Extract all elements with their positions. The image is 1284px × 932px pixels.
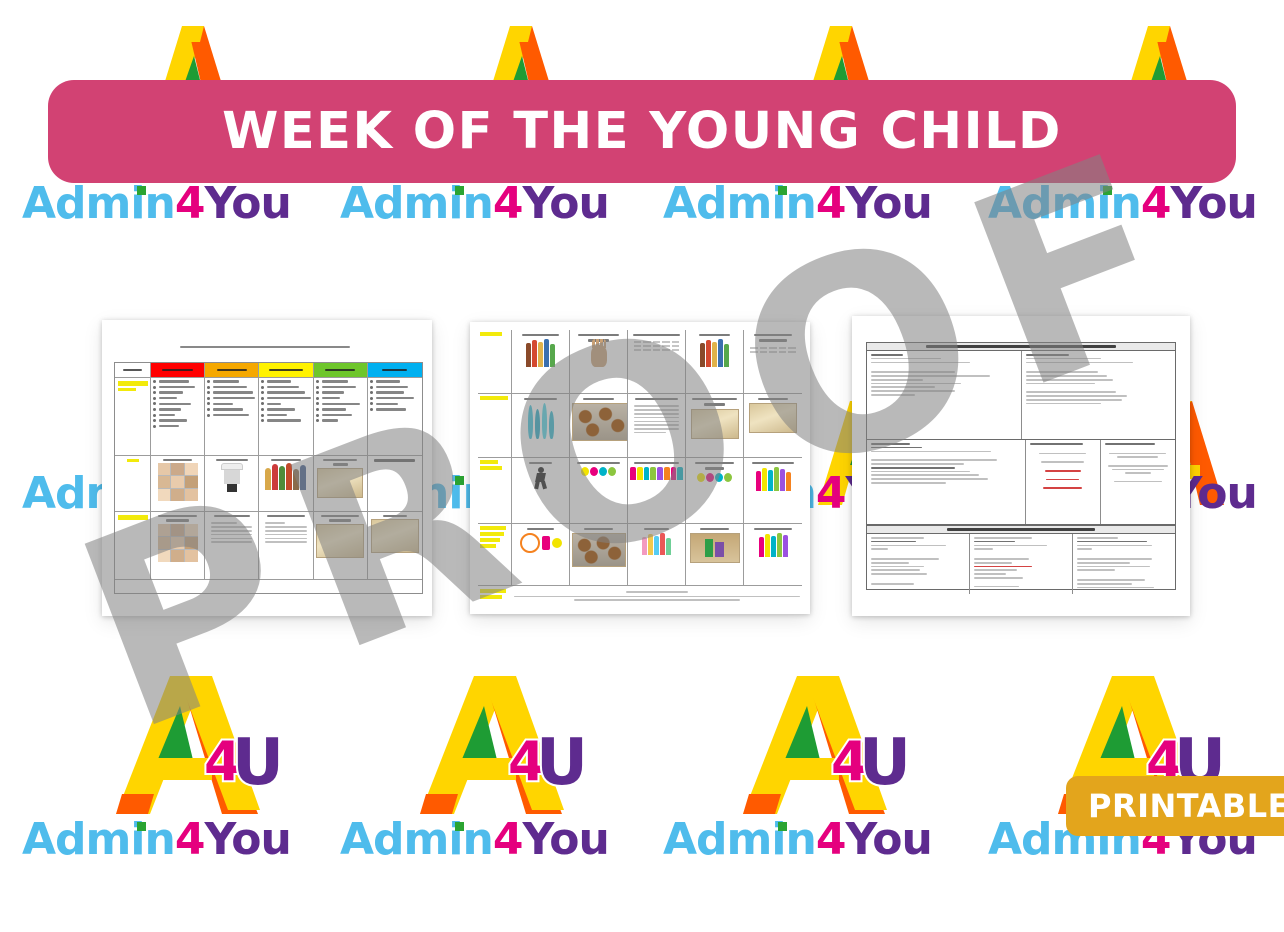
muffin-baking-photo xyxy=(572,533,626,567)
paint-chart-photo xyxy=(371,519,419,553)
objectives-col-story xyxy=(1022,351,1176,439)
preview-sheet-learning-circle[interactable] xyxy=(852,316,1190,616)
table-cell xyxy=(259,378,313,456)
wordmark-admin: Admin xyxy=(340,178,493,229)
section-heading-songs xyxy=(867,525,1175,534)
wordmark-you: You xyxy=(522,814,608,865)
songs-col-1 xyxy=(867,534,970,594)
conga-line-image xyxy=(630,467,683,480)
svg-text:U: U xyxy=(536,726,588,800)
table-cell xyxy=(512,524,570,586)
table-cell xyxy=(512,394,570,458)
table-cell xyxy=(205,512,259,580)
preview-canvas: Admin4You Admin4You Admin4You Admin4You xyxy=(0,0,1284,932)
table-cell xyxy=(205,378,259,456)
play-structure-photo xyxy=(690,533,740,563)
sheet1-title xyxy=(180,346,350,351)
handprint-image xyxy=(591,345,607,367)
handprint-paint-photo xyxy=(691,409,739,439)
timetable-thumbnail xyxy=(630,339,683,353)
people-group-image xyxy=(261,463,310,490)
table-cell xyxy=(686,458,744,524)
table-cell xyxy=(686,330,744,394)
songs-row xyxy=(867,534,1175,594)
sheet-content xyxy=(102,320,432,616)
paint-chart-photo xyxy=(317,468,363,498)
table-cell xyxy=(686,524,744,586)
wordmark-dot-icon xyxy=(137,822,146,831)
table-cell xyxy=(512,458,570,524)
table-header-cell xyxy=(368,363,422,378)
kid-faces-collage-image xyxy=(158,463,198,501)
brand-wordmark: Admin4You xyxy=(22,182,291,226)
children-group-image xyxy=(514,339,567,367)
table-header-cell xyxy=(205,363,259,378)
wordmark-you: You xyxy=(845,814,931,865)
objectives-col-puppet xyxy=(867,440,1026,524)
wordmark-admin: Admin xyxy=(340,814,493,865)
table-cell xyxy=(314,512,368,580)
objectives-col-extension xyxy=(1101,440,1175,524)
table-cell xyxy=(570,330,628,394)
kid-faces-collage-image xyxy=(158,524,198,562)
table-cell xyxy=(744,524,802,586)
wordmark-dot-icon xyxy=(455,186,464,195)
table-cell xyxy=(744,394,802,458)
svg-text:U: U xyxy=(859,726,911,800)
table-header-cell xyxy=(314,363,368,378)
page-title: WEEK OF THE YOUNG CHILD xyxy=(222,102,1062,161)
brand-monogram-icon: 4 U xyxy=(108,668,298,828)
table-cell xyxy=(628,394,686,458)
wordmark-you: You xyxy=(204,178,290,229)
brand-monogram-icon: 4 U xyxy=(735,668,925,828)
wordmark-dot-icon xyxy=(455,476,464,485)
objectives-col-vocab xyxy=(1026,440,1101,524)
preview-sheet-weekly-plan[interactable] xyxy=(102,320,432,616)
brand-wordmark: Admin4You xyxy=(663,182,932,226)
table-cell xyxy=(151,512,205,580)
brand-wordmark: Admin4You xyxy=(663,818,932,862)
wordmark-dot-icon xyxy=(778,186,787,195)
table-header-cell xyxy=(115,363,151,378)
wordmark-admin: Admin xyxy=(663,178,816,229)
table-cell xyxy=(205,456,259,512)
objectives-col-rhythm xyxy=(867,351,1022,439)
title-banner: WEEK OF THE YOUNG CHILD xyxy=(48,80,1236,183)
brand-wordmark: Admin4You xyxy=(340,182,609,226)
table-cell xyxy=(628,458,686,524)
wordmark-four: 4 xyxy=(493,814,523,865)
sheet-content xyxy=(470,322,810,614)
table-row-label xyxy=(115,512,151,580)
table-cell xyxy=(570,524,628,586)
table-row-label xyxy=(478,330,512,394)
table-cell xyxy=(628,524,686,586)
wordmark-dot-icon xyxy=(778,822,787,831)
sensory-bin-image xyxy=(514,533,567,553)
wordmark-four: 4 xyxy=(175,814,205,865)
table-footer-row xyxy=(478,586,802,606)
table-row-label xyxy=(478,458,512,524)
brand-monogram-icon: 4 U xyxy=(412,668,602,828)
paint-chart-photo xyxy=(316,524,364,558)
preview-sheet-activity-grid[interactable] xyxy=(470,322,810,614)
balloons-image xyxy=(572,467,625,476)
monogram-a4u-icon: 4 U xyxy=(108,668,298,823)
party-food-image xyxy=(630,533,683,555)
table-cell xyxy=(259,456,313,512)
wordmark-four: 4 xyxy=(816,814,846,865)
table-cell xyxy=(151,378,205,456)
table-header-cell xyxy=(259,363,313,378)
wordmark-you: You xyxy=(204,814,290,865)
brand-wordmark: Admin4You xyxy=(22,818,291,862)
objectives-subcols xyxy=(1026,440,1176,524)
table-cell xyxy=(368,512,422,580)
balloon-kids-image xyxy=(746,467,800,491)
muffin-baking-photo xyxy=(572,403,628,441)
table-cell xyxy=(744,330,802,394)
sheet-content xyxy=(852,316,1190,616)
wordmark-admin: Admin xyxy=(663,814,816,865)
table-row-label xyxy=(115,456,151,512)
table-cell xyxy=(151,456,205,512)
wordmark-four: 4 xyxy=(175,178,205,229)
printable-badge-label: PRINTABLE xyxy=(1088,787,1284,825)
table-row-label xyxy=(478,524,512,586)
monogram-a4u-icon: 4 U xyxy=(412,668,602,823)
wordmark-admin: Admin xyxy=(988,178,1141,229)
table-cell xyxy=(686,394,744,458)
sheet2-grid xyxy=(478,330,802,606)
handprint-paint-photo xyxy=(749,403,797,433)
table-cell xyxy=(314,378,368,456)
wordmark-dot-icon xyxy=(1103,186,1112,195)
sheet3-frame xyxy=(866,342,1176,590)
chef-figure-image xyxy=(221,463,243,492)
brand-wordmark: Admin4You xyxy=(340,818,609,862)
wordmark-you: You xyxy=(845,178,931,229)
wordmark-admin: Admin xyxy=(22,178,175,229)
table-cell xyxy=(368,378,422,456)
wordmark-four: 4 xyxy=(816,468,846,519)
balloon-dress-up-image xyxy=(746,533,800,557)
sheet1-grid xyxy=(114,362,423,594)
wordmark-you: You xyxy=(522,178,608,229)
table-cell xyxy=(744,458,802,524)
table-cell xyxy=(628,330,686,394)
svg-text:U: U xyxy=(232,726,284,800)
printable-badge: PRINTABLE xyxy=(1066,776,1284,836)
songs-col-3 xyxy=(1073,534,1175,594)
timetable-thumbnail xyxy=(746,345,800,355)
table-row-label xyxy=(478,394,512,458)
songs-col-2 xyxy=(970,534,1073,594)
wordmark-dot-icon xyxy=(455,822,464,831)
table-header-cell xyxy=(151,363,205,378)
children-group-image xyxy=(688,339,741,367)
table-row-label xyxy=(115,378,151,456)
brand-wordmark: Admin4You xyxy=(988,182,1257,226)
table-cell xyxy=(314,456,368,512)
wordmark-four: 4 xyxy=(493,178,523,229)
feathers-image xyxy=(514,403,567,439)
objectives-upper xyxy=(867,351,1175,440)
wordmark-dot-icon xyxy=(137,186,146,195)
table-cell xyxy=(368,456,422,512)
wordmark-four: 4 xyxy=(1141,178,1171,229)
wordmark-admin: Admin xyxy=(22,814,175,865)
dancing-figure-icon xyxy=(533,467,549,489)
table-cell xyxy=(512,330,570,394)
wordmark-you: You xyxy=(1170,178,1256,229)
monogram-a4u-icon: 4 U xyxy=(735,668,925,823)
table-cell xyxy=(259,512,313,580)
table-cell xyxy=(570,394,628,458)
section-heading-objectives xyxy=(867,343,1175,351)
balloons-image xyxy=(688,473,741,482)
wordmark-four: 4 xyxy=(816,178,846,229)
table-cell xyxy=(570,458,628,524)
objectives-lower xyxy=(867,440,1175,525)
